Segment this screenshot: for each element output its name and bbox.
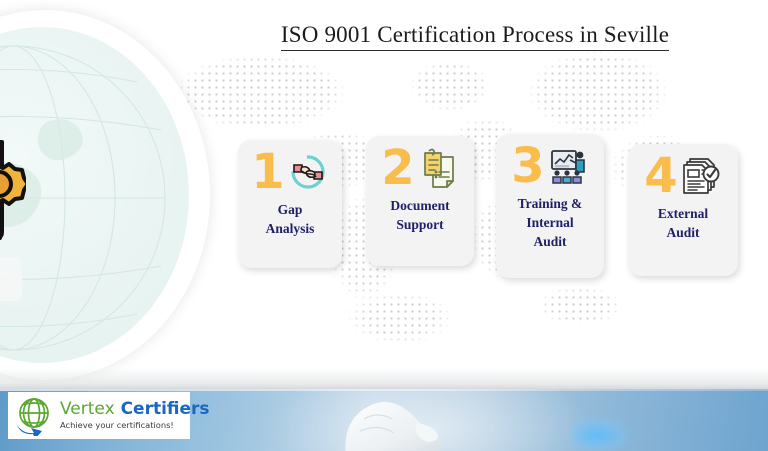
step-label-gap-analysis: Gap Analysis (238, 198, 342, 238)
step-card-header: 4 (628, 144, 738, 202)
cert-label-line2: Certification (0, 279, 18, 295)
company-logo[interactable]: Vertex Certifiers Achieve your certifica… (8, 392, 190, 439)
step-label-line1: Gap (242, 200, 338, 219)
logo-brand-name: Vertex Certifiers (60, 399, 210, 419)
documents-check-icon (680, 155, 722, 197)
step-card-external-audit[interactable]: 4 (628, 144, 738, 276)
step-number-1: 1 (251, 148, 284, 196)
clipboard-documents-icon (417, 147, 459, 189)
step-label-document-support: Document Support (366, 194, 474, 234)
logo-brand-primary: Vertex (60, 399, 115, 419)
step-number-3: 3 (511, 142, 544, 190)
left-globe-circle: ISO 9001 Certification (0, 10, 210, 380)
cert-label-line1: ISO 9001 (0, 263, 18, 279)
step-label-line1: Document (370, 196, 470, 215)
step-number-4: 4 (644, 152, 677, 200)
step-label-line2: Internal (500, 213, 600, 232)
step-card-gap-analysis[interactable]: 1 Gap Analysis (238, 140, 342, 268)
step-card-document-support[interactable]: 2 (366, 136, 474, 266)
step-label-line2: Support (370, 215, 470, 234)
globe-arrow-logo-icon (14, 395, 55, 436)
globe-inner-disc (0, 24, 192, 366)
step-label-training-internal-audit: Training & Internal Audit (496, 192, 604, 251)
step-label-line2: Audit (632, 223, 734, 242)
iso-certification-label: ISO 9001 Certification (0, 257, 22, 301)
handshake-icon (287, 151, 329, 193)
banner-top-shadow (0, 368, 768, 390)
step-number-2: 2 (381, 144, 414, 192)
step-card-header: 1 (238, 140, 342, 198)
screen-glow (572, 415, 634, 451)
step-card-training-internal-audit[interactable]: 3 (496, 134, 604, 278)
step-label-external-audit: External Audit (628, 202, 738, 242)
step-label-line2: Analysis (242, 219, 338, 238)
step-card-header: 2 (366, 136, 474, 194)
step-label-line1: Training & (500, 194, 600, 213)
logo-tagline: Achieve your certifications! (60, 420, 210, 431)
training-presentation-icon (547, 145, 589, 187)
certificate-document-icon (0, 128, 26, 246)
infographic-canvas: ISO 9001 Certification ISO 9001 Certific… (0, 0, 768, 451)
logo-text-block: Vertex Certifiers Achieve your certifica… (60, 400, 210, 431)
page-title: ISO 9001 Certification Process in Sevill… (190, 22, 760, 48)
logo-brand-secondary: Certifiers (121, 399, 210, 419)
hand-touching-screen-photo (330, 389, 510, 451)
step-label-line3: Audit (500, 232, 600, 251)
step-card-header: 3 (496, 134, 604, 192)
step-label-line1: External (632, 204, 734, 223)
globe-wireframe-icon (0, 27, 192, 366)
page-title-text: ISO 9001 Certification Process in Sevill… (281, 22, 669, 51)
